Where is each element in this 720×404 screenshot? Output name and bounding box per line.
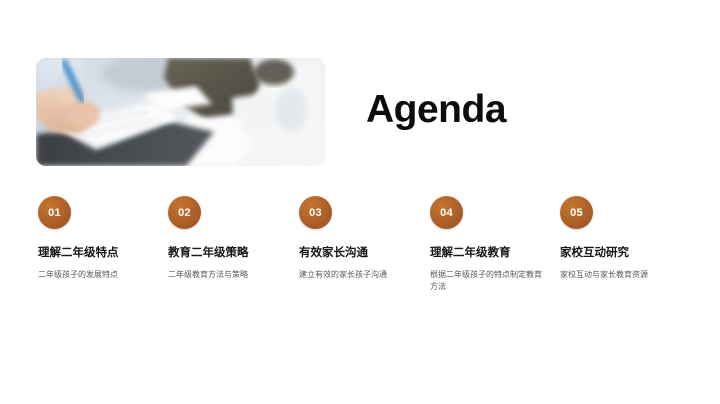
agenda-item-title: 有效家长沟通 — [299, 246, 421, 260]
agenda-item-description: 家校互动与家长教育资源 — [560, 269, 672, 281]
agenda-item-04[interactable]: 04 理解二年级教育 根据二年级孩子的特点制定教育方法 — [430, 196, 552, 293]
classroom-writing-photo — [36, 58, 325, 166]
agenda-item-description: 二年级教育方法与策略 — [168, 269, 280, 281]
agenda-item-description: 根据二年级孩子的特点制定教育方法 — [430, 269, 542, 293]
agenda-item-05[interactable]: 05 家校互动研究 家校互动与家长教育资源 — [560, 196, 682, 281]
agenda-item-title: 家校互动研究 — [560, 246, 682, 260]
photo-illustration — [36, 58, 325, 166]
agenda-number-badge: 05 — [560, 196, 593, 229]
agenda-slide: Agenda 01 理解二年级特点 二年级孩子的发展特点 02 教育二年级策略 … — [0, 0, 720, 404]
agenda-item-description: 建立有效的家长孩子沟通 — [299, 269, 411, 281]
agenda-item-title: 理解二年级特点 — [38, 246, 160, 260]
agenda-item-description: 二年级孩子的发展特点 — [38, 269, 150, 281]
agenda-number-badge: 04 — [430, 196, 463, 229]
page-title: Agenda — [366, 88, 506, 132]
agenda-item-title: 教育二年级策略 — [168, 246, 290, 260]
agenda-number-badge: 01 — [38, 196, 71, 229]
agenda-item-03[interactable]: 03 有效家长沟通 建立有效的家长孩子沟通 — [299, 196, 421, 281]
agenda-item-01[interactable]: 01 理解二年级特点 二年级孩子的发展特点 — [38, 196, 160, 281]
agenda-item-02[interactable]: 02 教育二年级策略 二年级教育方法与策略 — [168, 196, 290, 281]
agenda-number-badge: 02 — [168, 196, 201, 229]
agenda-item-title: 理解二年级教育 — [430, 246, 552, 260]
agenda-number-badge: 03 — [299, 196, 332, 229]
agenda-list: 01 理解二年级特点 二年级孩子的发展特点 02 教育二年级策略 二年级教育方法… — [0, 196, 720, 316]
